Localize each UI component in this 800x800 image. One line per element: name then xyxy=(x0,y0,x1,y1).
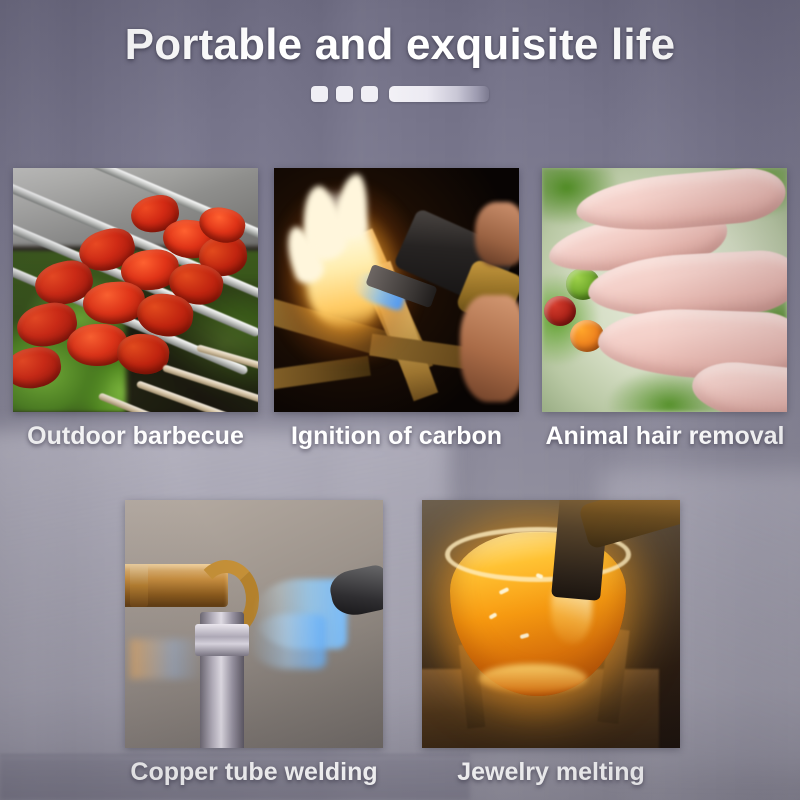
product-infographic-poster: Portable and exquisite life xyxy=(0,0,800,800)
background-vignette xyxy=(0,0,800,800)
